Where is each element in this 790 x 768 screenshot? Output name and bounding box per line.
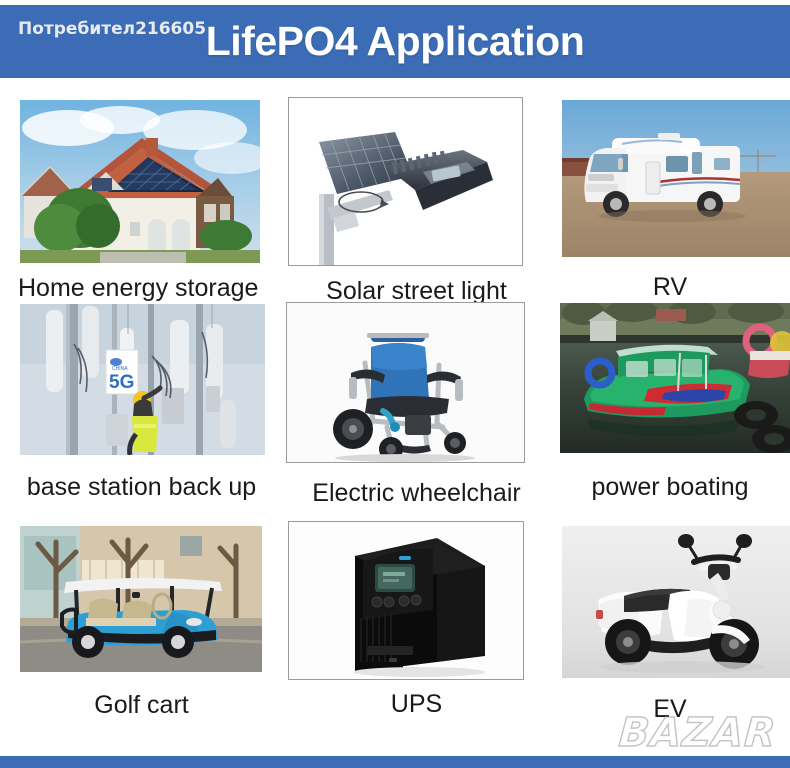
application-grid: Home energy storage — [0, 84, 790, 740]
ev-scooter-photo — [562, 526, 790, 678]
grid-item-solar-street-light[interactable]: Solar street light — [283, 84, 550, 302]
electric-wheelchair-photo — [286, 302, 525, 463]
caption-ev: EV — [550, 697, 790, 722]
caption-electric-wheelchair: Electric wheelchair — [283, 481, 550, 506]
ups-photo — [288, 521, 524, 680]
seller-watermark: Потребител216605 — [18, 19, 206, 39]
page-title: LifePO4 Application — [0, 5, 790, 78]
grid-item-rv[interactable]: RV — [550, 84, 790, 302]
caption-home-energy-storage: Home energy storage — [6, 276, 283, 301]
caption-solar-street-light: Solar street light — [283, 279, 550, 304]
solar-street-light-photo — [288, 97, 523, 266]
home-energy-storage-photo — [20, 100, 260, 263]
base-station-photo: CHINA 5G — [20, 304, 265, 455]
grid-item-home-energy-storage[interactable]: Home energy storage — [0, 84, 283, 302]
golf-cart-photo — [20, 526, 262, 672]
grid-item-base-station-back-up[interactable]: CHINA 5G base station back up — [0, 302, 283, 518]
caption-golf-cart: Golf cart — [0, 693, 283, 718]
footer-bar — [0, 754, 790, 768]
svg-text:5G: 5G — [109, 372, 134, 393]
grid-item-electric-wheelchair[interactable]: Electric wheelchair — [283, 302, 550, 518]
caption-power-boating: power boating — [550, 475, 790, 500]
grid-item-golf-cart[interactable]: Golf cart — [0, 518, 283, 724]
power-boating-photo — [560, 303, 790, 453]
header-bar: LifePO4 Application Потребител216605 — [0, 5, 790, 78]
caption-rv: RV — [550, 275, 790, 300]
rv-photo — [562, 100, 790, 257]
grid-item-ev[interactable]: EV — [550, 518, 790, 724]
caption-base-station-back-up: base station back up — [0, 475, 283, 500]
grid-item-ups[interactable]: UPS — [283, 518, 550, 724]
grid-item-power-boating[interactable]: power boating — [550, 302, 790, 518]
caption-ups: UPS — [283, 692, 550, 717]
